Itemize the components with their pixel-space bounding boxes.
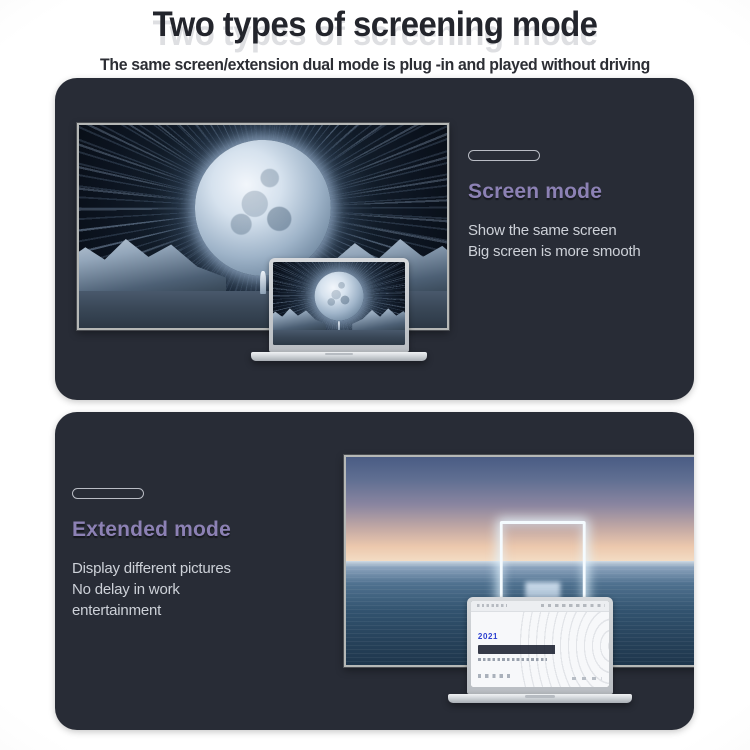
extended-mode-title: Extended mode [72,518,302,542]
water-surface [273,330,405,345]
moon-artwork-mirrored [273,262,405,345]
slide-footer-items [478,674,514,677]
standing-figure [338,321,340,330]
laptop-display: 2021 极简商务工作汇报 [471,601,609,687]
laptop-base [448,694,632,703]
laptop-lid: 2021 极简商务工作汇报 [467,597,613,694]
laptop-extended-mode: 2021 极简商务工作汇报 [467,597,613,703]
moon-icon [195,140,331,276]
card-screen-mode: Screen mode Show the same screen Big scr… [55,78,694,400]
screen-mode-text-block: Screen mode Show the same screen Big scr… [468,150,693,262]
laptop-screen-mode [269,258,409,361]
slide-toolbar-right-items [541,604,604,607]
slide-status-dots [572,677,602,680]
extended-mode-desc-line-3: entertainment [72,600,302,621]
page-title: Two types of screening mode [23,4,728,46]
extended-mode-text-block: Extended mode Display different pictures… [72,488,302,621]
slide-toolbar [471,601,609,612]
laptop-display [273,262,405,345]
screen-mode-desc-line-2: Big screen is more smooth [468,241,693,262]
presentation-slide: 2021 极简商务工作汇报 [471,601,609,687]
slide-subtext [478,658,547,661]
slide-year-label: 2021 [478,632,498,641]
title-wrap: Two types of screening mode Two types of… [0,4,750,48]
product-infographic: Two types of screening mode Two types of… [0,0,750,750]
page-subtitle: The same screen/extension dual mode is p… [15,56,735,75]
moon-icon [315,271,364,320]
pill-badge-icon [72,488,144,499]
header: Two types of screening mode Two types of… [0,0,750,75]
slide-headline [478,645,558,654]
laptop-lid [269,258,409,352]
screen-mode-description: Show the same screen Big screen is more … [468,220,693,262]
laptop-base [251,352,427,361]
standing-figure [260,271,266,293]
extended-mode-desc-line-1: Display different pictures [72,558,302,579]
pill-badge-icon [468,150,540,161]
card-extended-mode: 2021 极简商务工作汇报 Extended mode Display diff… [55,412,694,730]
screen-mode-title: Screen mode [468,180,693,204]
extended-mode-desc-line-2: No delay in work [72,579,302,600]
extended-mode-description: Display different pictures No delay in w… [72,558,302,621]
slide-toolbar-left-items [477,604,507,607]
screen-mode-desc-line-1: Show the same screen [468,220,693,241]
